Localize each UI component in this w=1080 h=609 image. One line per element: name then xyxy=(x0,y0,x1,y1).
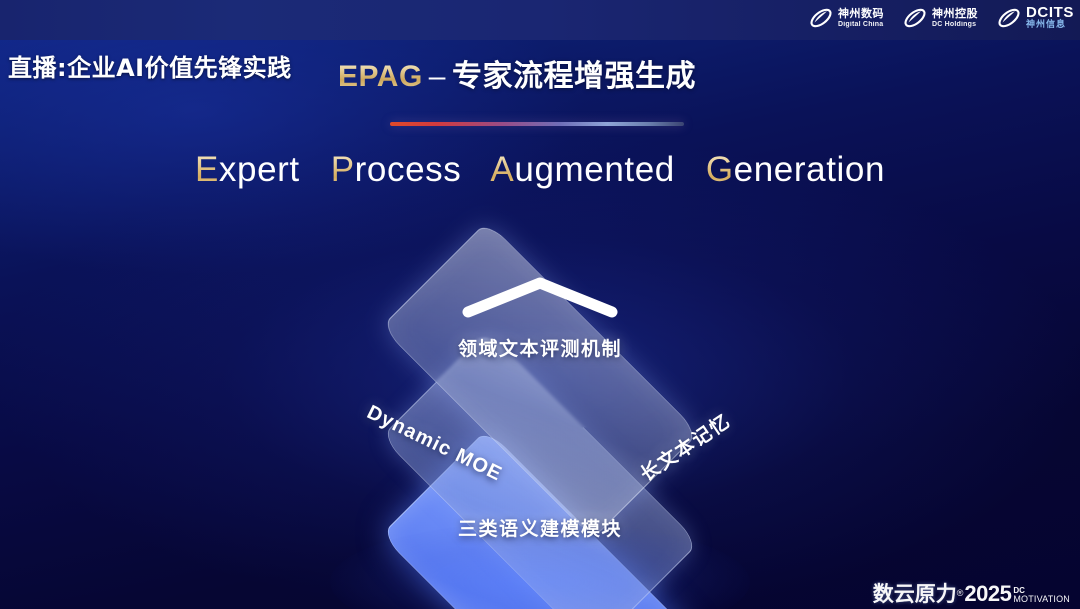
subtitle-initial: P xyxy=(331,150,355,189)
corp-logo-text: 神州数码 Digital China xyxy=(838,8,884,29)
title-abbreviation: EPAG xyxy=(338,60,423,93)
subtitle-space xyxy=(310,150,320,189)
corp-logo-text: DCITS 神州信息 xyxy=(1026,5,1074,31)
brand-name-cn: 数云原力 xyxy=(873,584,957,605)
brand-dc-motivation: DC MOTIVATION xyxy=(1013,587,1070,604)
subtitle-word-process: Process xyxy=(331,150,462,189)
swoosh-icon xyxy=(902,6,928,30)
title-dash: – xyxy=(429,60,446,93)
footer-brand-logo: 数云原力® 2025 DC MOTIVATION xyxy=(873,583,1070,605)
subtitle-rest: xpert xyxy=(219,150,300,189)
corp-name-en: DCITS xyxy=(1026,5,1074,20)
corp-logo-digital-china: 神州数码 Digital China xyxy=(808,6,884,30)
subtitle-word-generation: Generation xyxy=(706,150,885,189)
corp-logo-dcits: DCITS 神州信息 xyxy=(996,5,1074,31)
corp-logo-dc-holdings: 神州控股 DC Holdings xyxy=(902,6,978,30)
page-subtitle: Expert Process Augmented Generation xyxy=(0,150,1080,190)
live-stream-label: 直播:企业AI价值先锋实践 xyxy=(8,48,292,83)
subtitle-space xyxy=(685,150,695,189)
registered-mark: ® xyxy=(957,589,964,598)
subtitle-initial: E xyxy=(195,150,219,189)
subtitle-initial: G xyxy=(706,150,734,189)
subtitle-space xyxy=(472,150,482,189)
corp-name-cn: 神州数码 xyxy=(838,8,884,20)
subtitle-rest: eneration xyxy=(734,150,885,189)
corp-name-en: DC Holdings xyxy=(932,20,978,29)
page-title: EPAG–专家流程增强生成 xyxy=(338,51,696,95)
title-chinese: 专家流程增强生成 xyxy=(452,59,696,94)
subtitle-rest: rocess xyxy=(355,150,462,189)
corporate-logo-group: 神州数码 Digital China 神州控股 DC Holdings DCIT… xyxy=(808,5,1074,31)
corp-name-cn: 神州信息 xyxy=(1026,20,1074,31)
subtitle-initial: A xyxy=(490,150,514,189)
subtitle-rest: ugmented xyxy=(514,150,674,189)
brand-year: 2025 xyxy=(964,583,1011,605)
corp-logo-text: 神州控股 DC Holdings xyxy=(932,8,978,29)
corp-name-en: Digital China xyxy=(838,20,884,29)
title-divider xyxy=(390,122,684,126)
slide-canvas: 数云原力® 2025 DC MOTIVATION 神州数码 Digital Ch… xyxy=(0,0,1080,609)
subtitle-word-augmented: Augmented xyxy=(490,150,674,189)
corp-name-cn: 神州控股 xyxy=(932,8,978,20)
swoosh-icon xyxy=(996,6,1022,30)
swoosh-icon xyxy=(808,6,834,30)
subtitle-word-expert: Expert xyxy=(195,150,300,189)
brand-motivation: MOTIVATION xyxy=(1013,595,1070,604)
layered-architecture-diagram: 领域文本评测机制 Dynamic MOE 长文本记忆 三类语义建模模块 xyxy=(300,222,780,572)
